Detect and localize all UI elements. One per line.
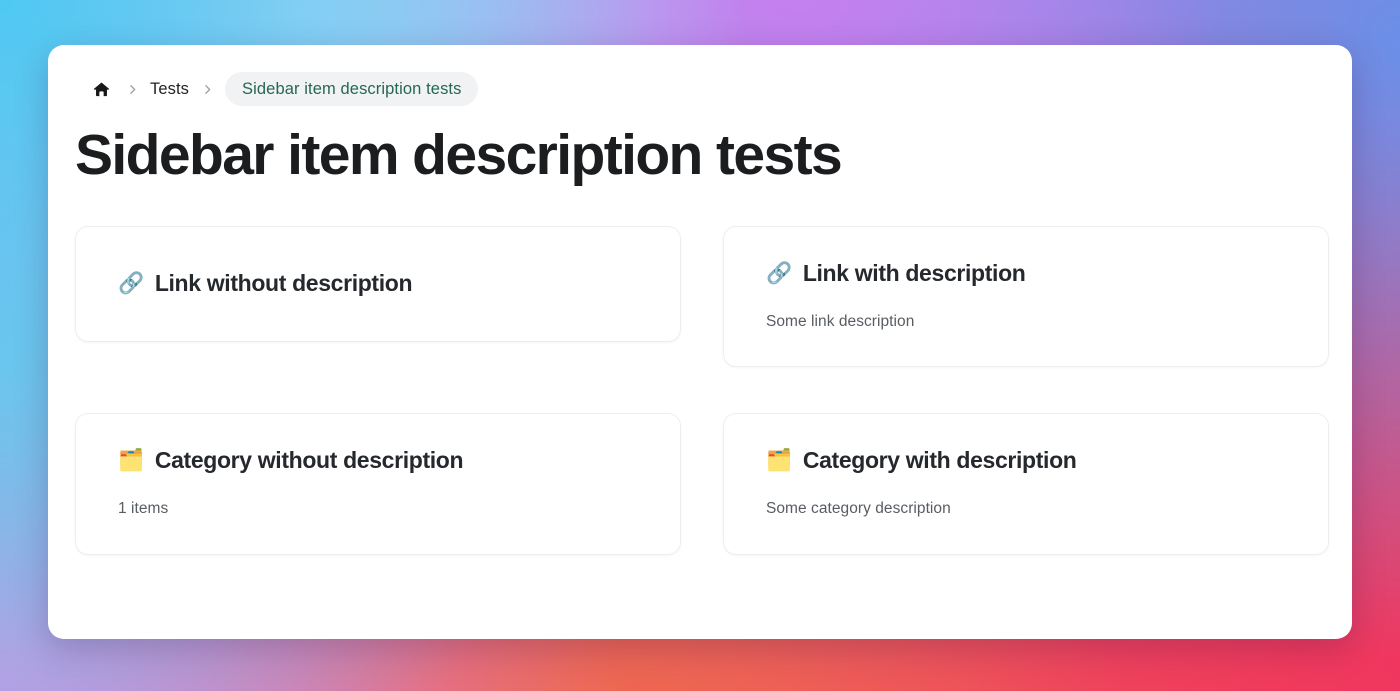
card-title-row: 🔗 Link without description	[118, 269, 638, 298]
card-title-text: Link without description	[155, 269, 412, 298]
card-grid: 🔗 Link without description 🔗 Link with d…	[75, 226, 1308, 555]
link-emoji-icon: 🔗	[766, 263, 792, 284]
breadcrumb-separator-2	[189, 83, 225, 96]
card-title-text: Link with description	[803, 259, 1026, 288]
breadcrumb-separator-1	[114, 83, 150, 96]
card-description: Some link description	[766, 311, 1286, 333]
card-index-dividers-emoji-icon: 🗂️	[118, 450, 144, 471]
card-category-with-description[interactable]: 🗂️ Category with description Some catego…	[723, 413, 1329, 554]
card-title-row: 🗂️ Category without description	[118, 446, 638, 475]
card-category-without-description[interactable]: 🗂️ Category without description 1 items	[75, 413, 681, 554]
content-panel: Tests Sidebar item description tests Sid…	[48, 45, 1352, 639]
card-index-dividers-emoji-icon: 🗂️	[766, 450, 792, 471]
card-title-row: 🔗 Link with description	[766, 259, 1286, 288]
card-title-text: Category without description	[155, 446, 463, 475]
card-title-text: Category with description	[803, 446, 1077, 475]
app-background: Tests Sidebar item description tests Sid…	[0, 0, 1400, 691]
card-link-with-description[interactable]: 🔗 Link with description Some link descri…	[723, 226, 1329, 367]
card-title-row: 🗂️ Category with description	[766, 446, 1286, 475]
breadcrumb-item-current: Sidebar item description tests	[225, 72, 478, 106]
card-link-without-description[interactable]: 🔗 Link without description	[75, 226, 681, 342]
content-panel-inner: Tests Sidebar item description tests Sid…	[48, 45, 1352, 555]
page-title: Sidebar item description tests	[75, 124, 1308, 188]
card-item-count: 1 items	[118, 498, 638, 520]
home-icon[interactable]	[88, 76, 114, 102]
breadcrumb: Tests Sidebar item description tests	[75, 72, 1308, 106]
card-description: Some category description	[766, 498, 1286, 520]
breadcrumb-item-tests[interactable]: Tests	[150, 80, 189, 99]
link-emoji-icon: 🔗	[118, 273, 144, 294]
